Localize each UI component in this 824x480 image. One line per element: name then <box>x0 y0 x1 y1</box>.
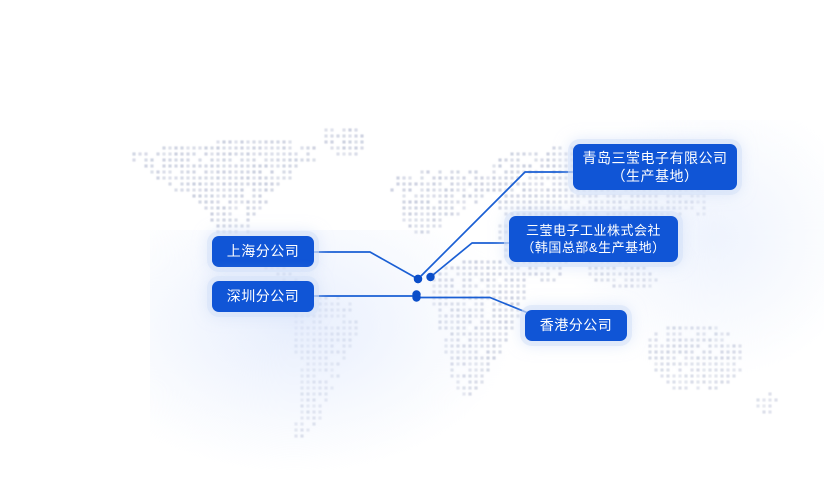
label-korea-hq-line: 三莹电子工业株式会社 <box>526 222 661 239</box>
label-hongkong[interactable]: 香港分公司 <box>525 310 627 341</box>
world-map-infographic: 青岛三莹电子有限公司（生产基地）三莹电子工业株式会社（韩国总部&生产基地）上海分… <box>0 0 824 480</box>
label-qingdao[interactable]: 青岛三莹电子有限公司（生产基地） <box>573 144 737 190</box>
label-hongkong-line: 香港分公司 <box>540 316 613 334</box>
label-shenzhen-line: 深圳分公司 <box>227 287 300 305</box>
map-marker-korea[interactable] <box>426 273 434 281</box>
label-shenzhen[interactable]: 深圳分公司 <box>212 281 314 312</box>
map-marker-hongkong[interactable] <box>412 293 420 301</box>
label-shanghai[interactable]: 上海分公司 <box>212 236 314 267</box>
connector-lines-layer <box>0 0 824 480</box>
connector-shanghai <box>314 252 418 279</box>
map-marker-shanghai[interactable] <box>414 275 422 283</box>
label-korea-hq[interactable]: 三莹电子工业株式会社（韩国总部&生产基地） <box>509 216 678 262</box>
label-shanghai-line: 上海分公司 <box>227 242 300 260</box>
label-korea-hq-line: （韩国总部&生产基地） <box>521 239 665 256</box>
connector-korea <box>431 243 510 277</box>
label-qingdao-line: 青岛三莹电子有限公司 <box>583 149 728 167</box>
label-qingdao-line: （生产基地） <box>612 167 699 185</box>
